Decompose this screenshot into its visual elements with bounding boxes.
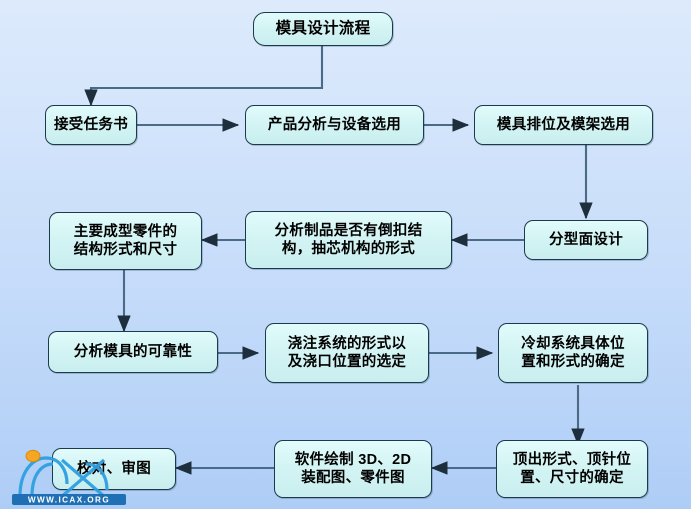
node-cad-drawing[interactable]: 软件绘制 3D、2D 装配图、零件图: [274, 440, 432, 498]
node-parting-surface-label: 分型面设计: [543, 231, 629, 249]
node-ejection-system[interactable]: 顶出形式、顶针位 置、尺寸的确定: [496, 440, 648, 498]
node-product-analysis[interactable]: 产品分析与设备选用: [245, 105, 424, 145]
node-cad-drawing-label: 软件绘制 3D、2D 装配图、零件图: [289, 451, 418, 487]
node-proofread-label: 校对、审图: [71, 460, 157, 478]
node-core-parts-label: 主要成型零件的 结构形式和尺寸: [68, 223, 184, 259]
node-reliability-label: 分析模具的可靠性: [68, 343, 198, 361]
node-title-label: 模具设计流程: [270, 19, 377, 38]
node-product-analysis-label: 产品分析与设备选用: [262, 116, 407, 134]
node-mold-layout-label: 模具排位及模架选用: [491, 116, 636, 134]
node-proofread[interactable]: 校对、审图: [52, 448, 176, 490]
edge-title-to-n01: [91, 46, 322, 105]
node-receive-task[interactable]: 接受任务书: [45, 105, 137, 145]
node-core-parts[interactable]: 主要成型零件的 结构形式和尺寸: [49, 212, 202, 270]
node-reliability[interactable]: 分析模具的可靠性: [48, 331, 218, 373]
node-mold-layout[interactable]: 模具排位及模架选用: [474, 105, 653, 145]
node-cooling-system[interactable]: 冷却系统具体位 置和形式的确定: [498, 323, 648, 383]
node-undercut-analysis-label: 分析制品是否有倒扣结 构，抽芯机构的形式: [269, 222, 429, 258]
node-ejection-system-label: 顶出形式、顶针位 置、尺寸的确定: [507, 451, 637, 487]
node-gating-system[interactable]: 浇注系统的形式以 及浇口位置的选定: [265, 323, 429, 383]
node-parting-surface[interactable]: 分型面设计: [524, 220, 648, 260]
watermark-url-text: WWW.ICAX.ORG: [28, 496, 110, 505]
node-cooling-system-label: 冷却系统具体位 置和形式的确定: [515, 335, 631, 371]
node-undercut-analysis[interactable]: 分析制品是否有倒扣结 构，抽芯机构的形式: [245, 211, 452, 269]
node-gating-system-label: 浇注系统的形式以 及浇口位置的选定: [282, 335, 412, 371]
flowchart-canvas: 模具设计流程 接受任务书 产品分析与设备选用 模具排位及模架选用 主要成型零件的…: [0, 0, 691, 509]
node-title[interactable]: 模具设计流程: [253, 12, 393, 46]
node-receive-task-label: 接受任务书: [48, 116, 134, 134]
